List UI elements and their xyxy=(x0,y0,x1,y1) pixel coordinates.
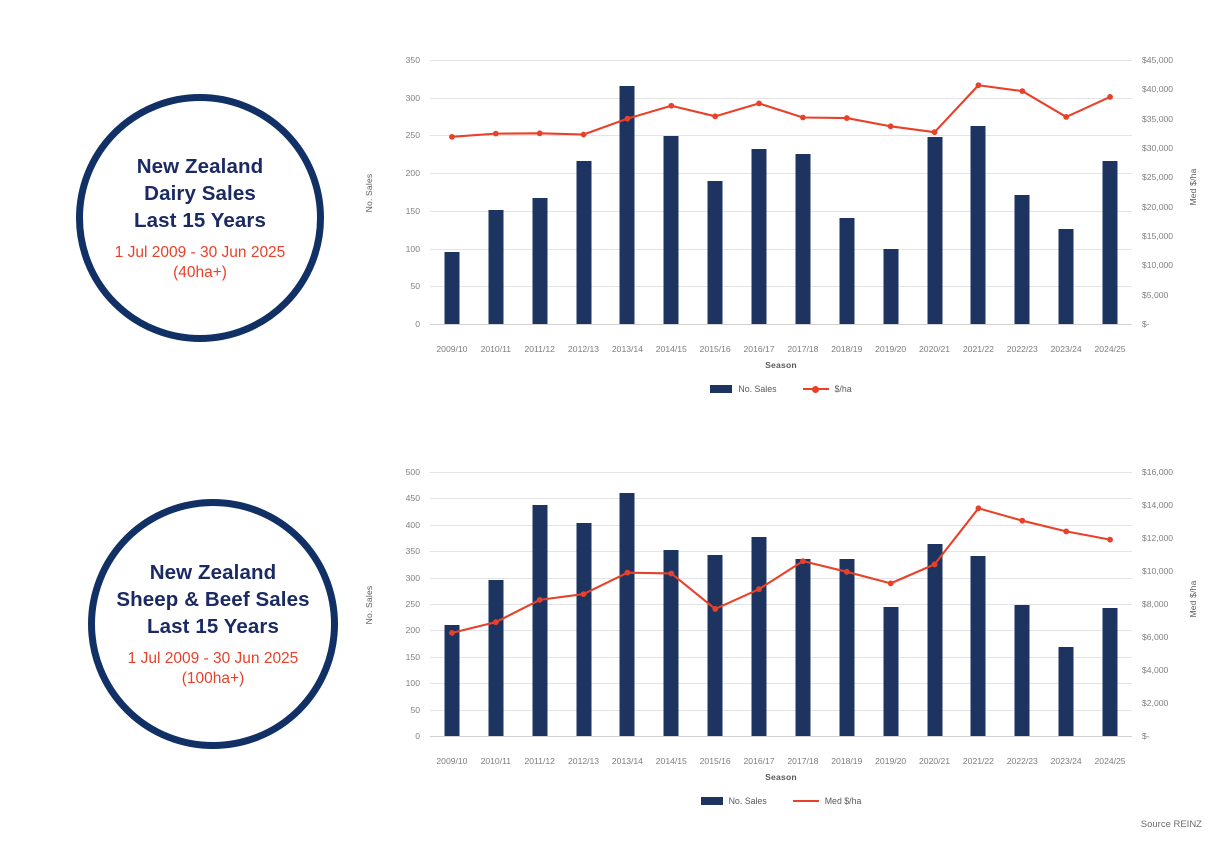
x-tick-label: 2009/10 xyxy=(430,344,474,354)
line-marker[interactable] xyxy=(625,116,631,122)
x-tick-label: 2019/20 xyxy=(869,756,913,766)
chart-sheep-legend-item-bars: No. Sales xyxy=(701,796,767,806)
line-marker[interactable] xyxy=(1019,88,1025,94)
y-tick-label: 150 xyxy=(406,652,420,662)
line-marker[interactable] xyxy=(1063,114,1069,120)
line-marker[interactable] xyxy=(888,580,894,586)
line-path xyxy=(452,508,1110,633)
x-tick-label: 2021/22 xyxy=(957,344,1001,354)
y2-tick-label: $35,000 xyxy=(1142,114,1173,124)
badge-dairy-title-line2: Dairy Sales xyxy=(134,180,266,207)
x-tick-label: 2017/18 xyxy=(781,344,825,354)
y-tick-label: 100 xyxy=(406,678,420,688)
line-marker[interactable] xyxy=(537,597,543,603)
y-tick-label: 200 xyxy=(406,625,420,635)
chart-sheep-yaxis-title: No. Sales xyxy=(364,586,374,625)
y-tick-label: 400 xyxy=(406,520,420,530)
badge-sheep-title-line3: Last 15 Years xyxy=(116,613,309,640)
line-marker[interactable] xyxy=(449,630,455,636)
y2-tick-label: $10,000 xyxy=(1142,260,1173,270)
y2-tick-label: $30,000 xyxy=(1142,143,1173,153)
badge-sheep-areafilter: (100ha+) xyxy=(128,669,299,689)
line-marker[interactable] xyxy=(493,619,499,625)
line-marker[interactable] xyxy=(712,606,718,612)
chart-sheep-legend-label-line: Med $/ha xyxy=(825,796,862,806)
poster-page: New Zealand Dairy Sales Last 15 Years 1 … xyxy=(0,0,1228,844)
badge-dairy-title-line3: Last 15 Years xyxy=(134,207,266,234)
chart-dairy-xaxis-title: Season xyxy=(430,360,1132,370)
x-tick-label: 2018/19 xyxy=(825,756,869,766)
line-marker[interactable] xyxy=(1107,537,1113,543)
x-tick-label: 2017/18 xyxy=(781,756,825,766)
bar-swatch-icon xyxy=(710,385,732,393)
line-marker[interactable] xyxy=(581,591,587,597)
line-marker[interactable] xyxy=(888,123,894,129)
line-marker[interactable] xyxy=(668,571,674,577)
x-tick-label: 2024/25 xyxy=(1088,344,1132,354)
line-marker[interactable] xyxy=(449,134,455,140)
line-marker[interactable] xyxy=(844,115,850,121)
line-marker[interactable] xyxy=(976,505,982,511)
badge-dairy-areafilter: (40ha+) xyxy=(115,263,286,283)
x-tick-label: 2012/13 xyxy=(562,756,606,766)
chart-sheep-xaxis-title: Season xyxy=(430,772,1132,782)
chart-dairy-legend-label-bars: No. Sales xyxy=(738,384,776,394)
chart-dairy-yaxis-title: No. Sales xyxy=(364,174,374,213)
y2-tick-label: $45,000 xyxy=(1142,55,1173,65)
line-marker[interactable] xyxy=(932,562,938,568)
badge-dairy: New Zealand Dairy Sales Last 15 Years 1 … xyxy=(76,94,324,342)
line-marker[interactable] xyxy=(712,113,718,119)
line-marker[interactable] xyxy=(800,558,806,564)
x-tick-label: 2019/20 xyxy=(869,344,913,354)
chart-dairy-sales: No. Sales Med $/ha 050100150200250300350… xyxy=(360,52,1200,402)
x-tick-label: 2013/14 xyxy=(606,344,650,354)
source-credit: Source REINZ xyxy=(1141,819,1202,830)
line-marker[interactable] xyxy=(493,131,499,137)
y-tick-label: 200 xyxy=(406,168,420,178)
x-tick-label: 2011/12 xyxy=(518,756,562,766)
x-tick-label: 2023/24 xyxy=(1044,756,1088,766)
chart-sheep-xaxis-ticklabels: 2009/102010/112011/122012/132013/142014/… xyxy=(430,756,1132,766)
y2-tick-label: $- xyxy=(1142,731,1150,741)
chart-dairy-xaxis-ticklabels: 2009/102010/112011/122012/132013/142014/… xyxy=(430,344,1132,354)
x-tick-label: 2014/15 xyxy=(649,756,693,766)
line-marker[interactable] xyxy=(668,103,674,109)
chart-sheep-line-series xyxy=(430,472,1132,736)
line-marker[interactable] xyxy=(844,569,850,575)
y-tick-label: 450 xyxy=(406,493,420,503)
chart-sheep-yaxis-ticklabels: 050100150200250300350400450500 xyxy=(376,464,426,746)
y-tick-label: 300 xyxy=(406,573,420,583)
y2-tick-label: $25,000 xyxy=(1142,172,1173,182)
badge-sheep-beef-subtitle: 1 Jul 2009 - 30 Jun 2025 (100ha+) xyxy=(128,649,299,689)
x-tick-label: 2009/10 xyxy=(430,756,474,766)
y-tick-label: 50 xyxy=(410,705,420,715)
chart-sheep-legend-item-line: Med $/ha xyxy=(793,796,862,806)
gridline xyxy=(430,736,1132,737)
y2-tick-label: $20,000 xyxy=(1142,202,1173,212)
y2-tick-label: $40,000 xyxy=(1142,84,1173,94)
gridline xyxy=(430,324,1132,325)
y-tick-label: 0 xyxy=(415,731,420,741)
line-marker[interactable] xyxy=(976,82,982,88)
chart-dairy-legend-item-line: $/ha xyxy=(803,384,852,394)
line-marker[interactable] xyxy=(756,586,762,592)
line-path xyxy=(452,85,1110,137)
y-tick-label: 100 xyxy=(406,244,420,254)
line-marker[interactable] xyxy=(537,130,543,136)
y-tick-label: 300 xyxy=(406,93,420,103)
y-tick-label: 150 xyxy=(406,206,420,216)
y-tick-label: 0 xyxy=(415,319,420,329)
chart-sheep-y2axis-title: Med $/ha xyxy=(1188,581,1198,618)
x-tick-label: 2015/16 xyxy=(693,344,737,354)
chart-dairy-y2axis-ticklabels: $-$5,000$10,000$15,000$20,000$25,000$30,… xyxy=(1136,52,1186,334)
x-tick-label: 2011/12 xyxy=(518,344,562,354)
x-tick-label: 2014/15 xyxy=(649,344,693,354)
x-tick-label: 2020/21 xyxy=(913,756,957,766)
chart-sheep-plot-area: No. Sales Med $/ha 050100150200250300350… xyxy=(360,464,1200,746)
y2-tick-label: $- xyxy=(1142,319,1150,329)
chart-dairy-canvas xyxy=(430,60,1132,324)
line-marker[interactable] xyxy=(625,570,631,576)
chart-dairy-plot-area: No. Sales Med $/ha 050100150200250300350… xyxy=(360,52,1200,334)
y2-tick-label: $14,000 xyxy=(1142,500,1173,510)
line-marker[interactable] xyxy=(1019,518,1025,524)
x-tick-label: 2020/21 xyxy=(913,344,957,354)
x-tick-label: 2022/23 xyxy=(1000,344,1044,354)
y2-tick-label: $8,000 xyxy=(1142,599,1168,609)
x-tick-label: 2013/14 xyxy=(606,756,650,766)
x-tick-label: 2016/17 xyxy=(737,756,781,766)
line-marker[interactable] xyxy=(756,101,762,107)
y-tick-label: 50 xyxy=(410,281,420,291)
y-tick-label: 350 xyxy=(406,546,420,556)
x-tick-label: 2024/25 xyxy=(1088,756,1132,766)
x-tick-label: 2022/23 xyxy=(1000,756,1044,766)
y-tick-label: 500 xyxy=(406,467,420,477)
chart-sheep-legend-label-bars: No. Sales xyxy=(729,796,767,806)
chart-dairy-y2axis-title: Med $/ha xyxy=(1188,169,1198,206)
y2-tick-label: $2,000 xyxy=(1142,698,1168,708)
badge-dairy-title-line1: New Zealand xyxy=(134,153,266,180)
badge-sheep-beef-title: New Zealand Sheep & Beef Sales Last 15 Y… xyxy=(116,559,309,640)
chart-sheep-y2axis-ticklabels: $-$2,000$4,000$6,000$8,000$10,000$12,000… xyxy=(1136,464,1186,746)
line-marker[interactable] xyxy=(800,115,806,121)
y-tick-label: 350 xyxy=(406,55,420,65)
line-marker[interactable] xyxy=(581,132,587,138)
chart-dairy-yaxis-ticklabels: 050100150200250300350 xyxy=(376,52,426,334)
line-swatch-icon xyxy=(793,796,819,806)
badge-sheep-daterange: 1 Jul 2009 - 30 Jun 2025 xyxy=(128,649,299,669)
y2-tick-label: $4,000 xyxy=(1142,665,1168,675)
line-marker[interactable] xyxy=(1063,529,1069,535)
x-tick-label: 2012/13 xyxy=(562,344,606,354)
line-marker[interactable] xyxy=(1107,94,1113,100)
x-tick-label: 2018/19 xyxy=(825,344,869,354)
badge-sheep-title-line1: New Zealand xyxy=(116,559,309,586)
y-tick-label: 250 xyxy=(406,130,420,140)
x-tick-label: 2015/16 xyxy=(693,756,737,766)
badge-dairy-daterange: 1 Jul 2009 - 30 Jun 2025 xyxy=(115,243,286,263)
x-tick-label: 2010/11 xyxy=(474,756,518,766)
line-swatch-icon xyxy=(803,384,829,394)
y2-tick-label: $16,000 xyxy=(1142,467,1173,477)
badge-dairy-title: New Zealand Dairy Sales Last 15 Years xyxy=(134,153,266,234)
chart-sheep-canvas xyxy=(430,472,1132,736)
badge-sheep-title-line2: Sheep & Beef Sales xyxy=(116,586,309,613)
y2-tick-label: $15,000 xyxy=(1142,231,1173,241)
x-tick-label: 2023/24 xyxy=(1044,344,1088,354)
x-tick-label: 2016/17 xyxy=(737,344,781,354)
badge-dairy-subtitle: 1 Jul 2009 - 30 Jun 2025 (40ha+) xyxy=(115,243,286,283)
chart-sheep-legend: No. Sales Med $/ha xyxy=(430,796,1132,806)
y2-tick-label: $5,000 xyxy=(1142,290,1168,300)
chart-dairy-line-series xyxy=(430,60,1132,324)
y2-tick-label: $12,000 xyxy=(1142,533,1173,543)
chart-dairy-legend-item-bars: No. Sales xyxy=(710,384,776,394)
y2-tick-label: $10,000 xyxy=(1142,566,1173,576)
chart-sheep-beef-sales: No. Sales Med $/ha 050100150200250300350… xyxy=(360,464,1200,816)
y2-tick-label: $6,000 xyxy=(1142,632,1168,642)
chart-dairy-legend: No. Sales $/ha xyxy=(430,384,1132,394)
bar-swatch-icon xyxy=(701,797,723,805)
badge-sheep-beef: New Zealand Sheep & Beef Sales Last 15 Y… xyxy=(88,499,338,749)
line-marker[interactable] xyxy=(932,129,938,135)
chart-dairy-legend-label-line: $/ha xyxy=(835,384,852,394)
y-tick-label: 250 xyxy=(406,599,420,609)
x-tick-label: 2021/22 xyxy=(957,756,1001,766)
x-tick-label: 2010/11 xyxy=(474,344,518,354)
